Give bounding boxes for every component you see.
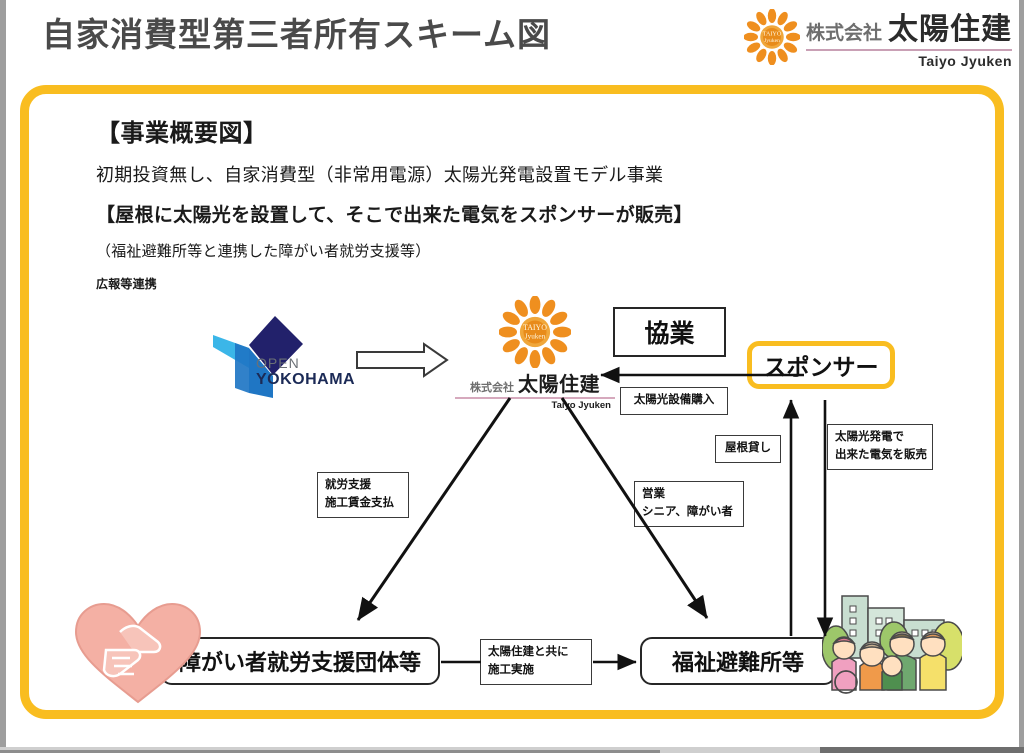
header-logo-roman: Taiyo Jyuken <box>918 53 1012 69</box>
label-construction: 太陽住建と共に 施工実施 <box>480 639 592 685</box>
open-yokohama-line-1: OPEN <box>256 355 355 371</box>
node-welfare-shelter[interactable]: 福祉避難所等 <box>640 637 836 685</box>
overview-heading: 【事業概要図】 <box>96 113 693 148</box>
header-company-logo: TAIYO Jyuken 株式会社 太陽住建 Taiyo Jyuken <box>744 4 1012 69</box>
node-taiyo-jyuken[interactable]: TAIYO Jyuken 株式会社 太陽住建 Taiyo Jyuken <box>455 296 615 411</box>
node-support-org-label: 障がい者就労支援団体等 <box>179 645 421 677</box>
label-construction-line-2: 施工実施 <box>488 662 584 680</box>
label-roof-lease: 屋根貸し <box>715 435 781 463</box>
node-sponsor-label: スポンサー <box>764 348 879 382</box>
svg-text:TAIYO: TAIYO <box>523 323 547 332</box>
label-sales: 営業 シニア、障がい者 <box>634 481 744 527</box>
community-people-icon <box>822 586 962 694</box>
label-sell-power-line-2: 出来た電気を販売 <box>835 447 925 465</box>
center-logo-kk: 株式会社 <box>470 379 514 395</box>
page-title: 自家消費型第三者所有スキーム図 <box>42 8 551 56</box>
open-yokohama-line-2: YOKOHAMA <box>256 371 355 389</box>
center-logo-name: 太陽住建 <box>518 368 600 397</box>
page-edge-right <box>1019 0 1024 753</box>
label-sell-power-line-1: 太陽光発電で <box>835 429 925 447</box>
svg-text:TAIYO: TAIYO <box>763 31 782 37</box>
label-sales-line-2: シニア、障がい者 <box>642 504 736 522</box>
svg-text:Jyuken: Jyuken <box>525 332 546 340</box>
label-sell-power: 太陽光発電で 出来た電気を販売 <box>827 424 933 470</box>
node-sponsor[interactable]: スポンサー <box>747 341 895 389</box>
overview-line-4: 広報等連携 <box>96 275 693 292</box>
label-construction-line-1: 太陽住建と共に <box>488 644 584 662</box>
sunflower-icon: TAIYO Jyuken <box>744 9 800 65</box>
label-work-support-line-2: 施工賃金支払 <box>325 495 401 513</box>
overview-line-3: （福祉避難所等と連携した障がい者就労支援等） <box>96 240 693 261</box>
handshake-heart-icon <box>68 598 208 706</box>
sunflower-icon: TAIYO Jyuken <box>499 296 571 368</box>
overview-text-block: 【事業概要図】 初期投資無し、自家消費型（非常用電源）太陽光発電設置モデル事業 … <box>96 113 693 292</box>
node-kyogyo[interactable]: 協業 <box>613 307 726 357</box>
header-logo-kk: 株式会社 <box>806 18 882 45</box>
overview-line-2: 【屋根に太陽光を設置して、そこで出来た電気をスポンサーが販売】 <box>96 200 693 227</box>
label-equipment-purchase: 太陽光設備購入 <box>620 387 728 415</box>
node-kyogyo-label: 協業 <box>644 314 694 350</box>
label-work-support-line-1: 就労支援 <box>325 477 401 495</box>
overview-line-1: 初期投資無し、自家消費型（非常用電源）太陽光発電設置モデル事業 <box>96 161 693 187</box>
slide-canvas: 自家消費型第三者所有スキーム図 <box>0 0 1024 753</box>
svg-text:Jyuken: Jyuken <box>764 38 780 44</box>
label-sales-line-1: 営業 <box>642 486 736 504</box>
page-edge-left <box>0 0 6 753</box>
node-welfare-shelter-label: 福祉避難所等 <box>672 645 804 677</box>
page-edge-bottom-dark <box>820 747 1024 753</box>
center-logo-roman: Taiyo Jyuken <box>455 400 615 411</box>
open-yokohama-wordmark: OPEN YOKOHAMA <box>256 355 355 389</box>
header-logo-name: 太陽住建 <box>888 4 1012 48</box>
label-work-support: 就労支援 施工賃金支払 <box>317 472 409 518</box>
